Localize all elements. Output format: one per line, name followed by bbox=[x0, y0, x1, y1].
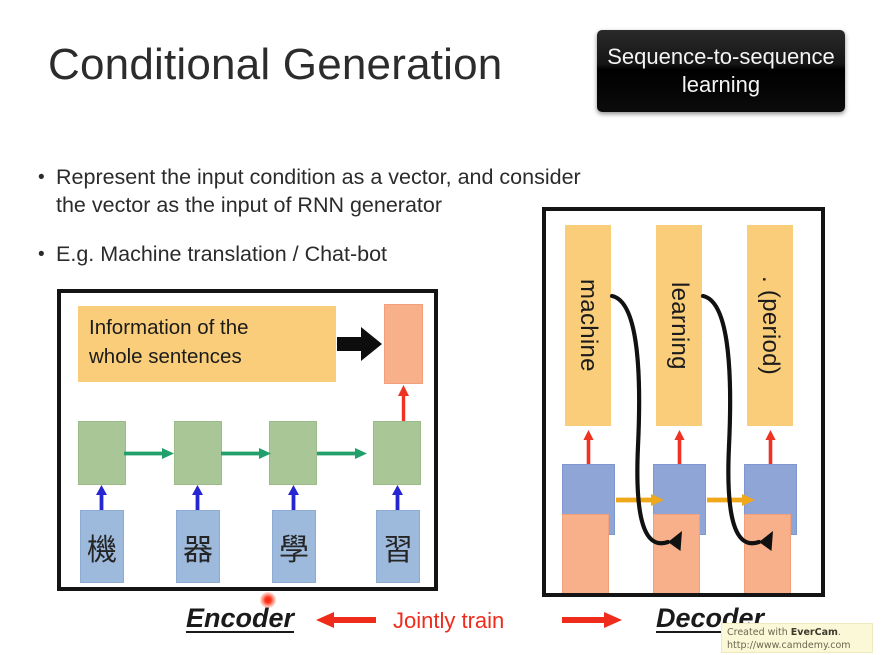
watermark-brand: EverCam bbox=[791, 627, 838, 638]
encoder-recurrent-arrow-icon bbox=[317, 448, 367, 459]
decoder-output-arrow-icon bbox=[673, 430, 686, 464]
bullet-text: Represent the input condition as a vecto… bbox=[56, 164, 583, 219]
encoder-input-arrow-icon bbox=[287, 485, 300, 511]
decoder-output-word-label: learning bbox=[665, 282, 693, 370]
bullet-marker-icon: • bbox=[38, 241, 56, 269]
page-title: Conditional Generation bbox=[48, 40, 502, 90]
decoder-input-block bbox=[562, 514, 609, 594]
encoder-input-arrow-icon bbox=[191, 485, 204, 511]
watermark-line-1: Created with EverCam. bbox=[727, 626, 868, 639]
encoder-recurrent-arrow-icon bbox=[124, 448, 174, 459]
encoder-rnn-cell bbox=[174, 421, 222, 485]
decoder-output-word-label: . (period) bbox=[756, 276, 784, 375]
decoder-output-word-band: . (period) bbox=[747, 225, 793, 426]
information-band-line-1: Information of the bbox=[89, 313, 325, 342]
information-band-line-2: whole sentences bbox=[89, 342, 325, 371]
encoder-input-token: 機 bbox=[80, 510, 124, 583]
decoder-recurrent-arrow-icon bbox=[707, 494, 755, 506]
encoder-input-token: 習 bbox=[376, 510, 420, 583]
left-arrow-icon bbox=[316, 612, 376, 628]
right-arrow-icon bbox=[562, 612, 622, 628]
decoder-input-block bbox=[744, 514, 791, 594]
jointly-train-label: Jointly train bbox=[393, 608, 504, 634]
decoder-output-word-label: machine bbox=[574, 279, 602, 372]
bullet-item: • E.g. Machine translation / Chat-bot bbox=[38, 241, 583, 269]
encoder-output-arrow-icon bbox=[397, 385, 410, 422]
decoder-recurrent-arrow-icon bbox=[616, 494, 664, 506]
topic-tag-label: Sequence-to-sequence learning bbox=[605, 43, 837, 99]
bullet-item: • Represent the input condition as a vec… bbox=[38, 164, 583, 219]
encoder-rnn-cell bbox=[78, 421, 126, 485]
laser-pointer-dot bbox=[260, 592, 276, 608]
watermark-period: . bbox=[838, 627, 841, 638]
encoder-input-arrow-icon bbox=[391, 485, 404, 511]
bullet-marker-icon: • bbox=[38, 164, 56, 192]
context-vector-block bbox=[384, 304, 423, 384]
decoder-output-arrow-icon bbox=[582, 430, 595, 464]
encoder-input-token: 器 bbox=[176, 510, 220, 583]
decoder-output-word-band: learning bbox=[656, 225, 702, 426]
topic-tag-badge: Sequence-to-sequence learning bbox=[597, 30, 845, 112]
encoder-rnn-cell bbox=[269, 421, 317, 485]
encoder-caption-label: Encoder bbox=[186, 603, 294, 634]
watermark-created-with: Created with bbox=[727, 627, 791, 638]
information-band: Information of the whole sentences bbox=[78, 306, 336, 382]
decoder-diagram-panel: machine learning . (period) bbox=[542, 207, 825, 597]
encoder-input-token: 學 bbox=[272, 510, 316, 583]
encoder-recurrent-arrow-icon bbox=[221, 448, 271, 459]
evercam-watermark[interactable]: Created with EverCam. http://www.camdemy… bbox=[721, 623, 873, 653]
bullet-list: • Represent the input condition as a vec… bbox=[38, 164, 583, 269]
decoder-output-word-band: machine bbox=[565, 225, 611, 426]
encoder-input-arrow-icon bbox=[95, 485, 108, 511]
bullet-text: E.g. Machine translation / Chat-bot bbox=[56, 241, 583, 269]
thick-right-arrow-icon bbox=[337, 326, 383, 362]
encoder-diagram-panel: Information of the whole sentences bbox=[57, 289, 438, 591]
decoder-output-arrow-icon bbox=[764, 430, 777, 464]
watermark-url[interactable]: http://www.camdemy.com bbox=[727, 639, 868, 652]
encoder-rnn-cell bbox=[373, 421, 421, 485]
decoder-input-block bbox=[653, 514, 700, 594]
slide-canvas: Conditional Generation Sequence-to-seque… bbox=[0, 0, 881, 655]
